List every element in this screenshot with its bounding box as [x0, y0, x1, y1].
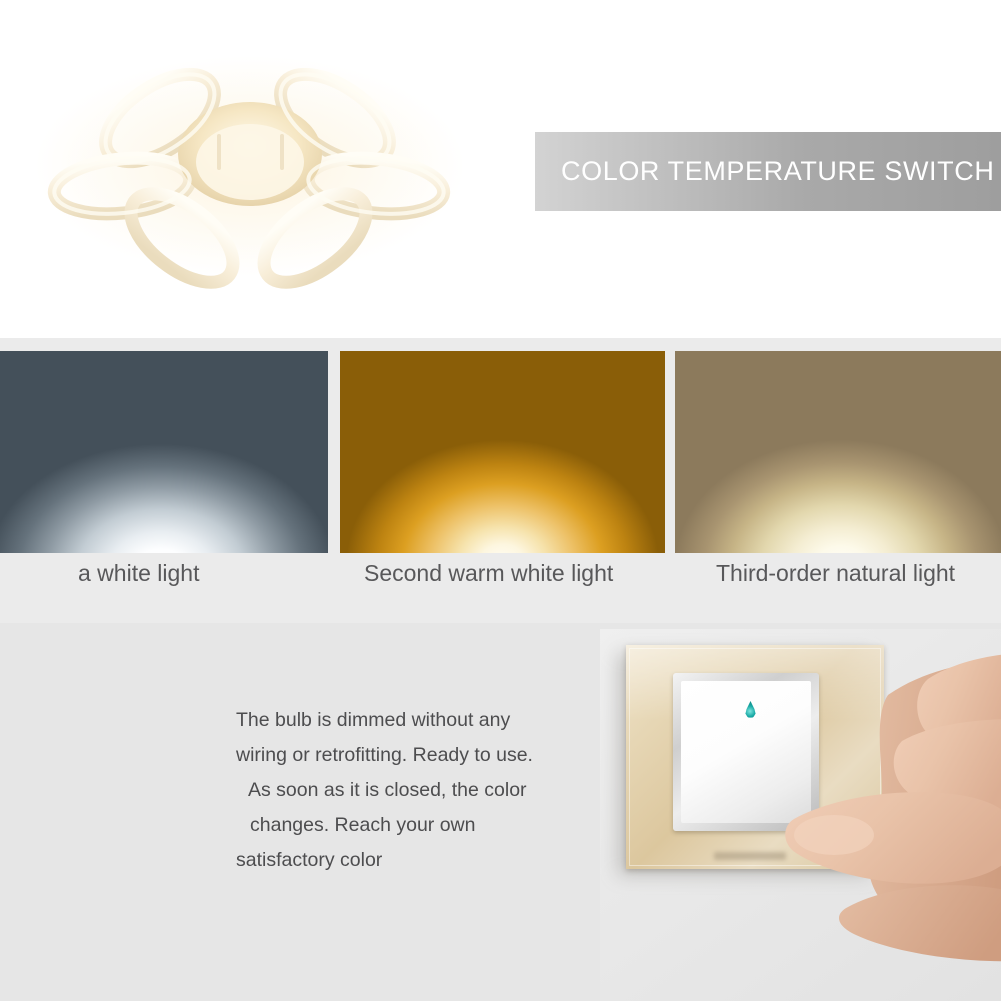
detail-section: The bulb is dimmed without any wiring or…	[0, 623, 1001, 1001]
light-caption-natural: Third-order natural light	[716, 560, 955, 587]
banner-title: COLOR TEMPERATURE SWITCH	[535, 156, 994, 187]
led-droplet-indicator-icon	[745, 701, 756, 718]
description-line: The bulb is dimmed without any	[236, 703, 566, 738]
banner: COLOR TEMPERATURE SWITCH	[535, 132, 1001, 211]
light-panel-natural-icon	[675, 351, 1001, 553]
light-caption-white: a white light	[78, 560, 199, 587]
description-line: wiring or retrofitting. Ready to use.	[236, 738, 566, 773]
description-line: satisfactory color	[236, 843, 566, 878]
light-caption-group: a white light Second warm white light Th…	[0, 560, 1001, 610]
light-panel-white-icon	[0, 351, 328, 553]
light-samples-section: a white light Second warm white light Th…	[0, 338, 1001, 623]
brand-logo-mark	[714, 852, 786, 860]
light-caption-warm: Second warm white light	[364, 560, 613, 587]
pointing-hand-icon	[778, 629, 1001, 963]
description-block: The bulb is dimmed without any wiring or…	[236, 703, 566, 878]
wall-switch-photo	[600, 629, 1001, 1001]
description-line: changes. Reach your own	[236, 808, 566, 843]
hero-section: COLOR TEMPERATURE SWITCH	[0, 0, 1001, 338]
light-panel-warm-icon	[340, 351, 665, 553]
description-line: As soon as it is closed, the color	[236, 773, 566, 808]
product-infographic-page: COLOR TEMPERATURE SWITCH a white light S…	[0, 0, 1001, 1001]
led-flower-ceiling-lamp-icon	[10, 46, 490, 296]
light-panel-group	[0, 351, 1001, 553]
